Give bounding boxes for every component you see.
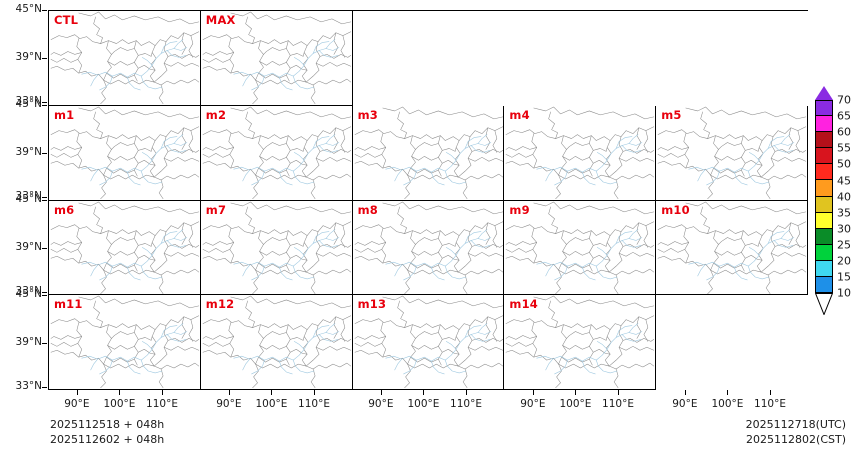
lat-tick-mark (42, 153, 47, 154)
lon-tick-label: 110°E (596, 398, 640, 410)
lat-tick-mark (42, 292, 47, 293)
lat-tick-label: 45°N (0, 3, 42, 15)
lon-tick-mark (727, 390, 728, 395)
panel-m1[interactable]: m1 (49, 106, 201, 201)
colorbar-tick-label: 65 (837, 111, 851, 122)
lat-tick-mark (42, 10, 47, 11)
lat-tick-mark (42, 102, 47, 103)
panel-label: m1 (54, 108, 74, 122)
colorbar-tick-label: 40 (837, 191, 851, 202)
footer-init-times: 2025112518 + 048h 2025112602 + 048h (50, 418, 164, 447)
panel-m12[interactable]: m12 (201, 295, 353, 390)
panel-label: m4 (509, 108, 529, 122)
lon-tick-label: 100°E (97, 398, 141, 410)
lon-tick-mark (77, 390, 78, 395)
lon-tick-mark (271, 390, 272, 395)
colorbar-band (815, 100, 833, 116)
panel-label: m8 (358, 203, 378, 217)
lon-tick-label: 110°E (140, 398, 184, 410)
lon-tick-mark (423, 390, 424, 395)
panel-m4[interactable]: m4 (504, 106, 656, 201)
lat-tick-label: 39°N (0, 241, 42, 253)
lon-tick-mark (314, 390, 315, 395)
lon-tick-label: 90°E (511, 398, 555, 410)
lon-tick-mark (381, 390, 382, 395)
panel-m7[interactable]: m7 (201, 201, 353, 296)
colorbar-band (815, 116, 833, 132)
lat-tick-label: 39°N (0, 146, 42, 158)
lat-tick-mark (42, 197, 47, 198)
lon-tick-label: 110°E (444, 398, 488, 410)
lat-tick-label: 45°N (0, 288, 42, 300)
valid-time-utc: 2025112718(UTC) (746, 418, 846, 433)
panel-label: m14 (509, 297, 538, 311)
colorbar-band (815, 277, 833, 293)
colorbar-bottom-arrow (815, 293, 833, 315)
lat-tick-mark (42, 248, 47, 249)
panel-m13[interactable]: m13 (353, 295, 505, 390)
panel-label: m10 (661, 203, 690, 217)
colorbar-tick-label: 20 (837, 256, 851, 267)
panel-label: m7 (206, 203, 226, 217)
panel-m5[interactable]: m5 (656, 106, 808, 201)
lon-tick-label: 90°E (207, 398, 251, 410)
init-time-line-2: 2025112602 + 048h (50, 433, 164, 448)
lon-tick-mark (119, 390, 120, 395)
lon-tick-label: 90°E (663, 398, 707, 410)
colorbar-band (815, 245, 833, 261)
panel-m11[interactable]: m11 (49, 295, 201, 390)
lon-tick-mark (466, 390, 467, 395)
lat-tick-label: 33°N (0, 380, 42, 392)
panel-label: CTL (54, 13, 78, 27)
figure-canvas: East_Northwest radarCRX CMA-REPS 45°N39°… (0, 0, 860, 456)
panel-label: m13 (358, 297, 387, 311)
lon-tick-mark (575, 390, 576, 395)
lon-tick-label: 90°E (55, 398, 99, 410)
panel-empty (656, 295, 808, 390)
lat-tick-mark (42, 105, 47, 106)
panel-label: m12 (206, 297, 235, 311)
panel-label: m11 (54, 297, 83, 311)
colorbar-band (815, 164, 833, 180)
valid-time-cst: 2025112802(CST) (746, 433, 846, 448)
footer-valid-times: 2025112718(UTC) 2025112802(CST) (746, 418, 846, 447)
lat-tick-mark (42, 200, 47, 201)
colorbar-tick-label: 30 (837, 223, 851, 234)
colorbar: 70656055504540353025201510 (813, 86, 860, 336)
panel-empty (504, 11, 656, 106)
lat-tick-label: 45°N (0, 98, 42, 110)
lon-tick-label: 100°E (705, 398, 749, 410)
lat-tick-mark (42, 58, 47, 59)
panel-label: m6 (54, 203, 74, 217)
lat-tick-mark (42, 295, 47, 296)
colorbar-band (815, 148, 833, 164)
lon-tick-label: 100°E (249, 398, 293, 410)
colorbar-gradient (815, 100, 833, 293)
colorbar-top-arrow (815, 86, 833, 100)
lon-tick-mark (685, 390, 686, 395)
lon-tick-mark (618, 390, 619, 395)
panel-empty (353, 11, 505, 106)
colorbar-band (815, 261, 833, 277)
lon-tick-label: 100°E (401, 398, 445, 410)
colorbar-band (815, 229, 833, 245)
panel-max[interactable]: MAX (201, 11, 353, 106)
panel-grid: CTL MAX (48, 10, 808, 390)
lon-tick-label: 100°E (553, 398, 597, 410)
colorbar-band (815, 197, 833, 213)
colorbar-band (815, 213, 833, 229)
lat-tick-mark (42, 343, 47, 344)
panel-m9[interactable]: m9 (504, 201, 656, 296)
colorbar-band (815, 180, 833, 196)
panel-label: m9 (509, 203, 529, 217)
lon-tick-label: 110°E (748, 398, 792, 410)
lon-tick-mark (533, 390, 534, 395)
lat-tick-label: 45°N (0, 193, 42, 205)
colorbar-tick-label: 60 (837, 127, 851, 138)
colorbar-band (815, 132, 833, 148)
panel-empty (656, 11, 808, 106)
panel-label: m5 (661, 108, 681, 122)
colorbar-tick-label: 10 (837, 288, 851, 299)
panel-ctl[interactable]: CTL (49, 11, 201, 106)
lon-tick-label: 90°E (359, 398, 403, 410)
lon-tick-mark (229, 390, 230, 395)
panel-m14[interactable]: m14 (504, 295, 656, 390)
colorbar-tick-label: 55 (837, 143, 851, 154)
init-time-line-1: 2025112518 + 048h (50, 418, 164, 433)
lon-tick-mark (162, 390, 163, 395)
lon-tick-mark (770, 390, 771, 395)
panel-label: MAX (206, 13, 236, 27)
panel-m3[interactable]: m3 (353, 106, 505, 201)
colorbar-tick-label: 15 (837, 272, 851, 283)
panel-label: m3 (358, 108, 378, 122)
panel-label: m2 (206, 108, 226, 122)
colorbar-tick-label: 45 (837, 175, 851, 186)
panel-m6[interactable]: m6 (49, 201, 201, 296)
lon-tick-label: 110°E (292, 398, 336, 410)
lat-tick-mark (42, 387, 47, 388)
lat-tick-label: 39°N (0, 336, 42, 348)
colorbar-tick-label: 35 (837, 207, 851, 218)
colorbar-tick-label: 25 (837, 239, 851, 250)
panel-m10[interactable]: m10 (656, 201, 808, 296)
panel-m8[interactable]: m8 (353, 201, 505, 296)
colorbar-tick-label: 50 (837, 159, 851, 170)
colorbar-tick-label: 70 (837, 95, 851, 106)
lat-tick-label: 39°N (0, 51, 42, 63)
panel-m2[interactable]: m2 (201, 106, 353, 201)
